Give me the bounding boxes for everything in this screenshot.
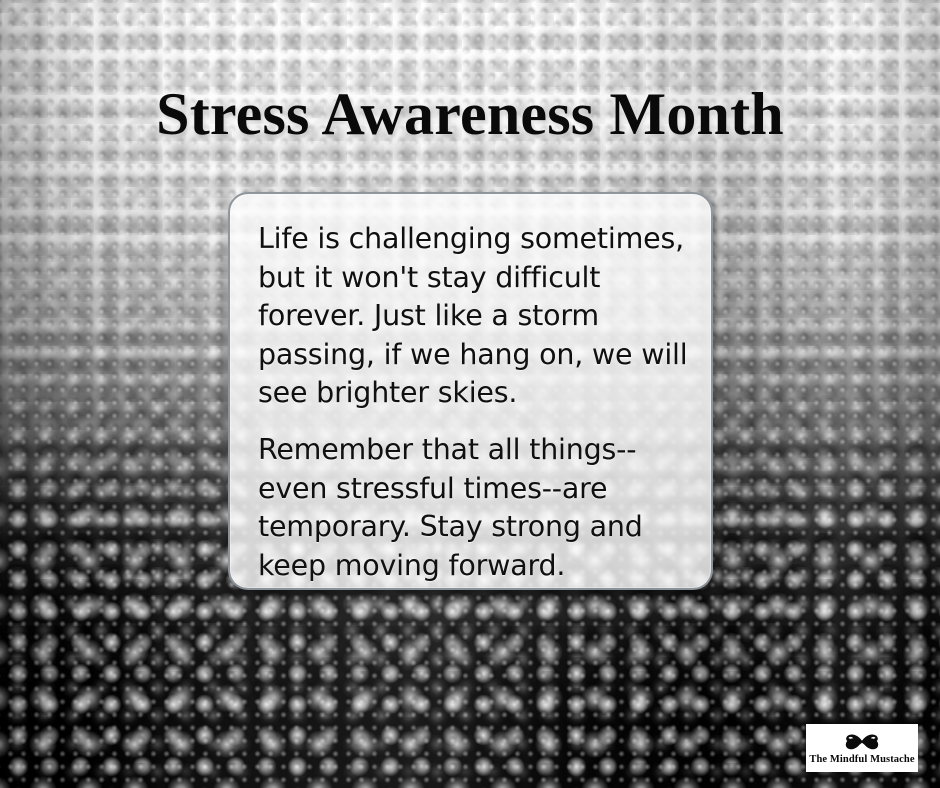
page-title: Stress Awareness Month — [0, 83, 940, 146]
quote-paragraph-2: Remember that all things--even stressful… — [258, 431, 689, 585]
brand-logo-text: The Mindful Mustache — [809, 755, 914, 766]
mustache-icon — [840, 732, 884, 752]
quote-paragraph-1: Life is challenging sometimes, but it wo… — [258, 220, 689, 413]
brand-logo: The Mindful Mustache — [806, 724, 918, 772]
poster-canvas: Stress Awareness Month Life is challengi… — [0, 0, 940, 788]
quote-card: Life is challenging sometimes, but it wo… — [228, 192, 713, 590]
